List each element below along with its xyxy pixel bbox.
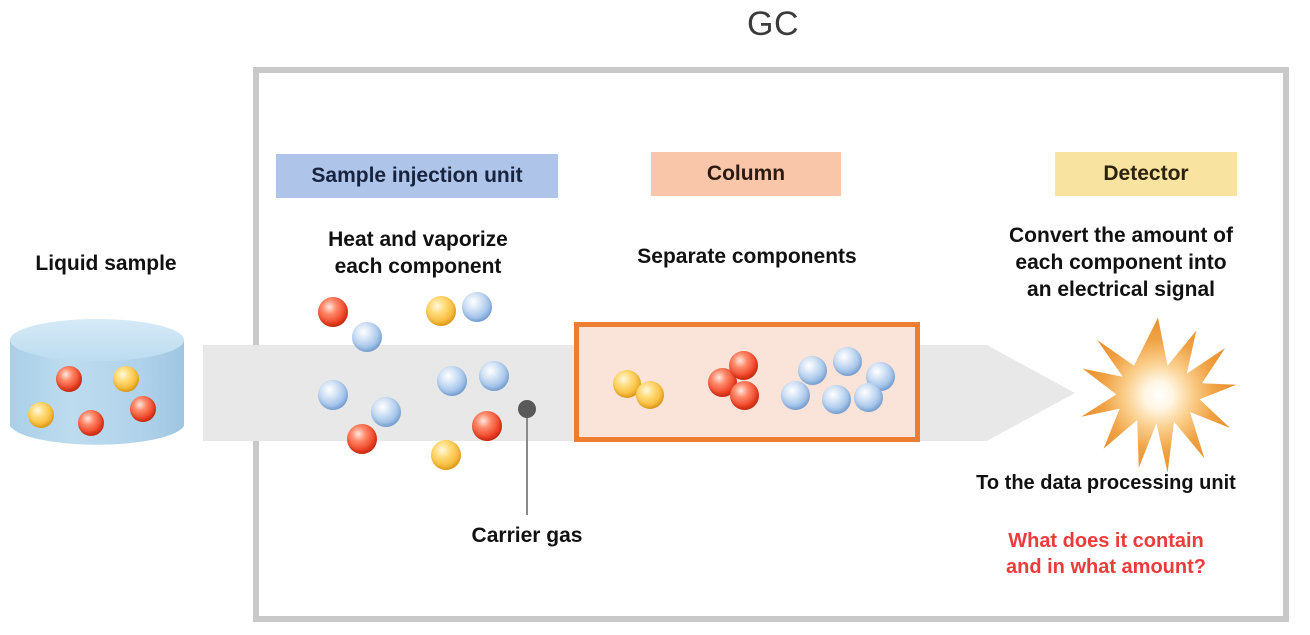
diagram-canvas: GC Liquid sample xyxy=(0,0,1310,635)
component-sphere xyxy=(347,424,377,454)
column-sphere xyxy=(729,351,758,380)
sample-sphere xyxy=(56,366,82,392)
chip-detector: Detector xyxy=(1055,152,1237,196)
carrier-gas-label: Carrier gas xyxy=(407,524,647,548)
component-sphere xyxy=(318,297,348,327)
sample-sphere xyxy=(113,366,139,392)
column-sphere xyxy=(833,347,862,376)
page-title: GC xyxy=(253,2,1293,46)
to-data-processing-unit-label: To the data processing unit xyxy=(930,472,1282,495)
column-sphere xyxy=(781,381,810,410)
component-sphere xyxy=(437,366,467,396)
component-sphere xyxy=(462,292,492,322)
question-text: What does it contain and in what amount? xyxy=(930,528,1282,580)
chip-sample-injection-unit: Sample injection unit xyxy=(276,154,558,198)
detector-starburst-icon xyxy=(1078,316,1238,476)
component-sphere xyxy=(431,440,461,470)
column-description: Separate components xyxy=(606,243,888,270)
component-sphere xyxy=(472,411,502,441)
sample-sphere xyxy=(130,396,156,422)
column-sphere xyxy=(636,381,664,409)
sample-sphere xyxy=(78,410,104,436)
component-sphere xyxy=(352,322,382,352)
sample-sphere xyxy=(28,402,54,428)
injection-description: Heat and vaporize each component xyxy=(278,226,558,280)
liquid-sample-label: Liquid sample xyxy=(0,252,212,276)
column-sphere xyxy=(822,385,851,414)
carrier-gas-dot-icon xyxy=(518,400,536,418)
column-sphere xyxy=(798,356,827,385)
component-sphere xyxy=(479,361,509,391)
component-sphere xyxy=(371,397,401,427)
detector-description: Convert the amount of each component int… xyxy=(962,222,1280,303)
column-sphere xyxy=(730,381,759,410)
chip-column: Column xyxy=(651,152,841,196)
column-sphere xyxy=(854,383,883,412)
component-sphere xyxy=(318,380,348,410)
carrier-gas-leader-line xyxy=(526,408,528,515)
component-sphere xyxy=(426,296,456,326)
